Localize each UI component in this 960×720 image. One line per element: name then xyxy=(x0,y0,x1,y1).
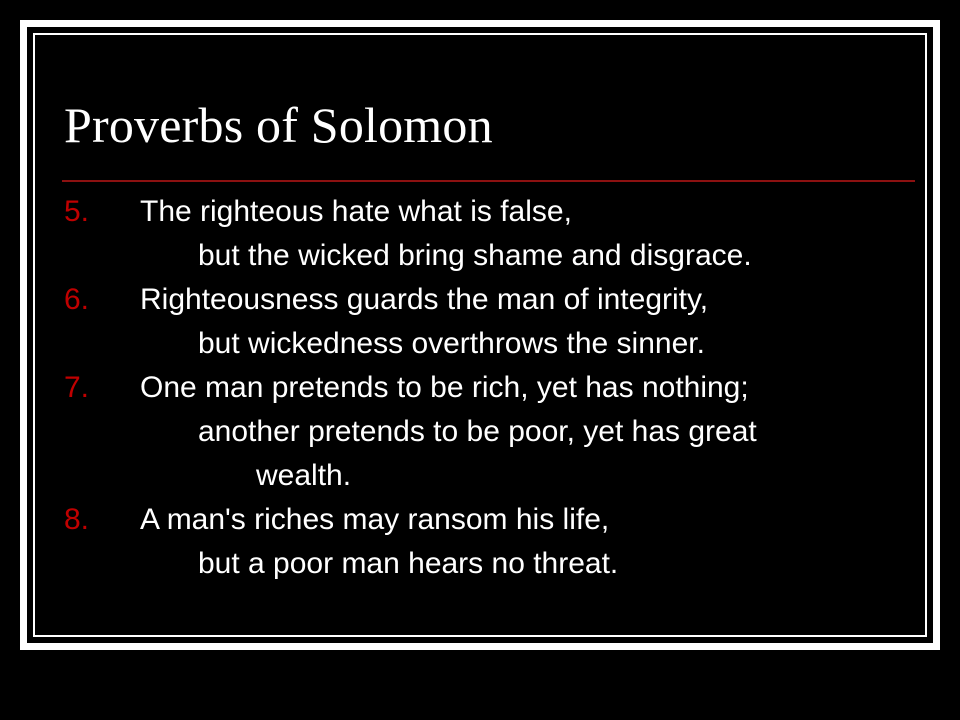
proverb-list: 5.The righteous hate what is false,but t… xyxy=(60,190,930,586)
list-item: 5.The righteous hate what is false,but t… xyxy=(60,190,930,278)
list-item-line: another pretends to be poor, yet has gre… xyxy=(140,410,930,454)
list-item-number: 5. xyxy=(64,190,126,234)
list-item-number: 6. xyxy=(64,278,126,322)
list-item-line: A man's riches may ransom his life, xyxy=(140,498,930,542)
list-item: 7.One man pretends to be rich, yet has n… xyxy=(60,366,930,498)
page-title: Proverbs of Solomon xyxy=(64,96,924,154)
list-item-line: The righteous hate what is false, xyxy=(140,190,930,234)
list-item-line: but wickedness overthrows the sinner. xyxy=(140,322,930,366)
list-item-line: wealth. xyxy=(140,454,930,498)
list-item-text: A man's riches may ransom his life,but a… xyxy=(140,498,930,586)
list-item: 6.Righteousness guards the man of integr… xyxy=(60,278,930,366)
list-item-number: 8. xyxy=(64,498,126,542)
list-item: 8.A man's riches may ransom his life,but… xyxy=(60,498,930,586)
list-item-number: 7. xyxy=(64,366,126,410)
slide-canvas: Proverbs of Solomon 5.The righteous hate… xyxy=(0,0,960,720)
list-item-line: but the wicked bring shame and disgrace. xyxy=(140,234,930,278)
list-item-text: Righteousness guards the man of integrit… xyxy=(140,278,930,366)
list-item-text: The righteous hate what is false,but the… xyxy=(140,190,930,278)
list-item-text: One man pretends to be rich, yet has not… xyxy=(140,366,930,498)
title-divider-rule xyxy=(62,180,915,182)
list-item-line: but a poor man hears no threat. xyxy=(140,542,930,586)
list-item-line: Righteousness guards the man of integrit… xyxy=(140,278,930,322)
list-item-line: One man pretends to be rich, yet has not… xyxy=(140,366,930,410)
